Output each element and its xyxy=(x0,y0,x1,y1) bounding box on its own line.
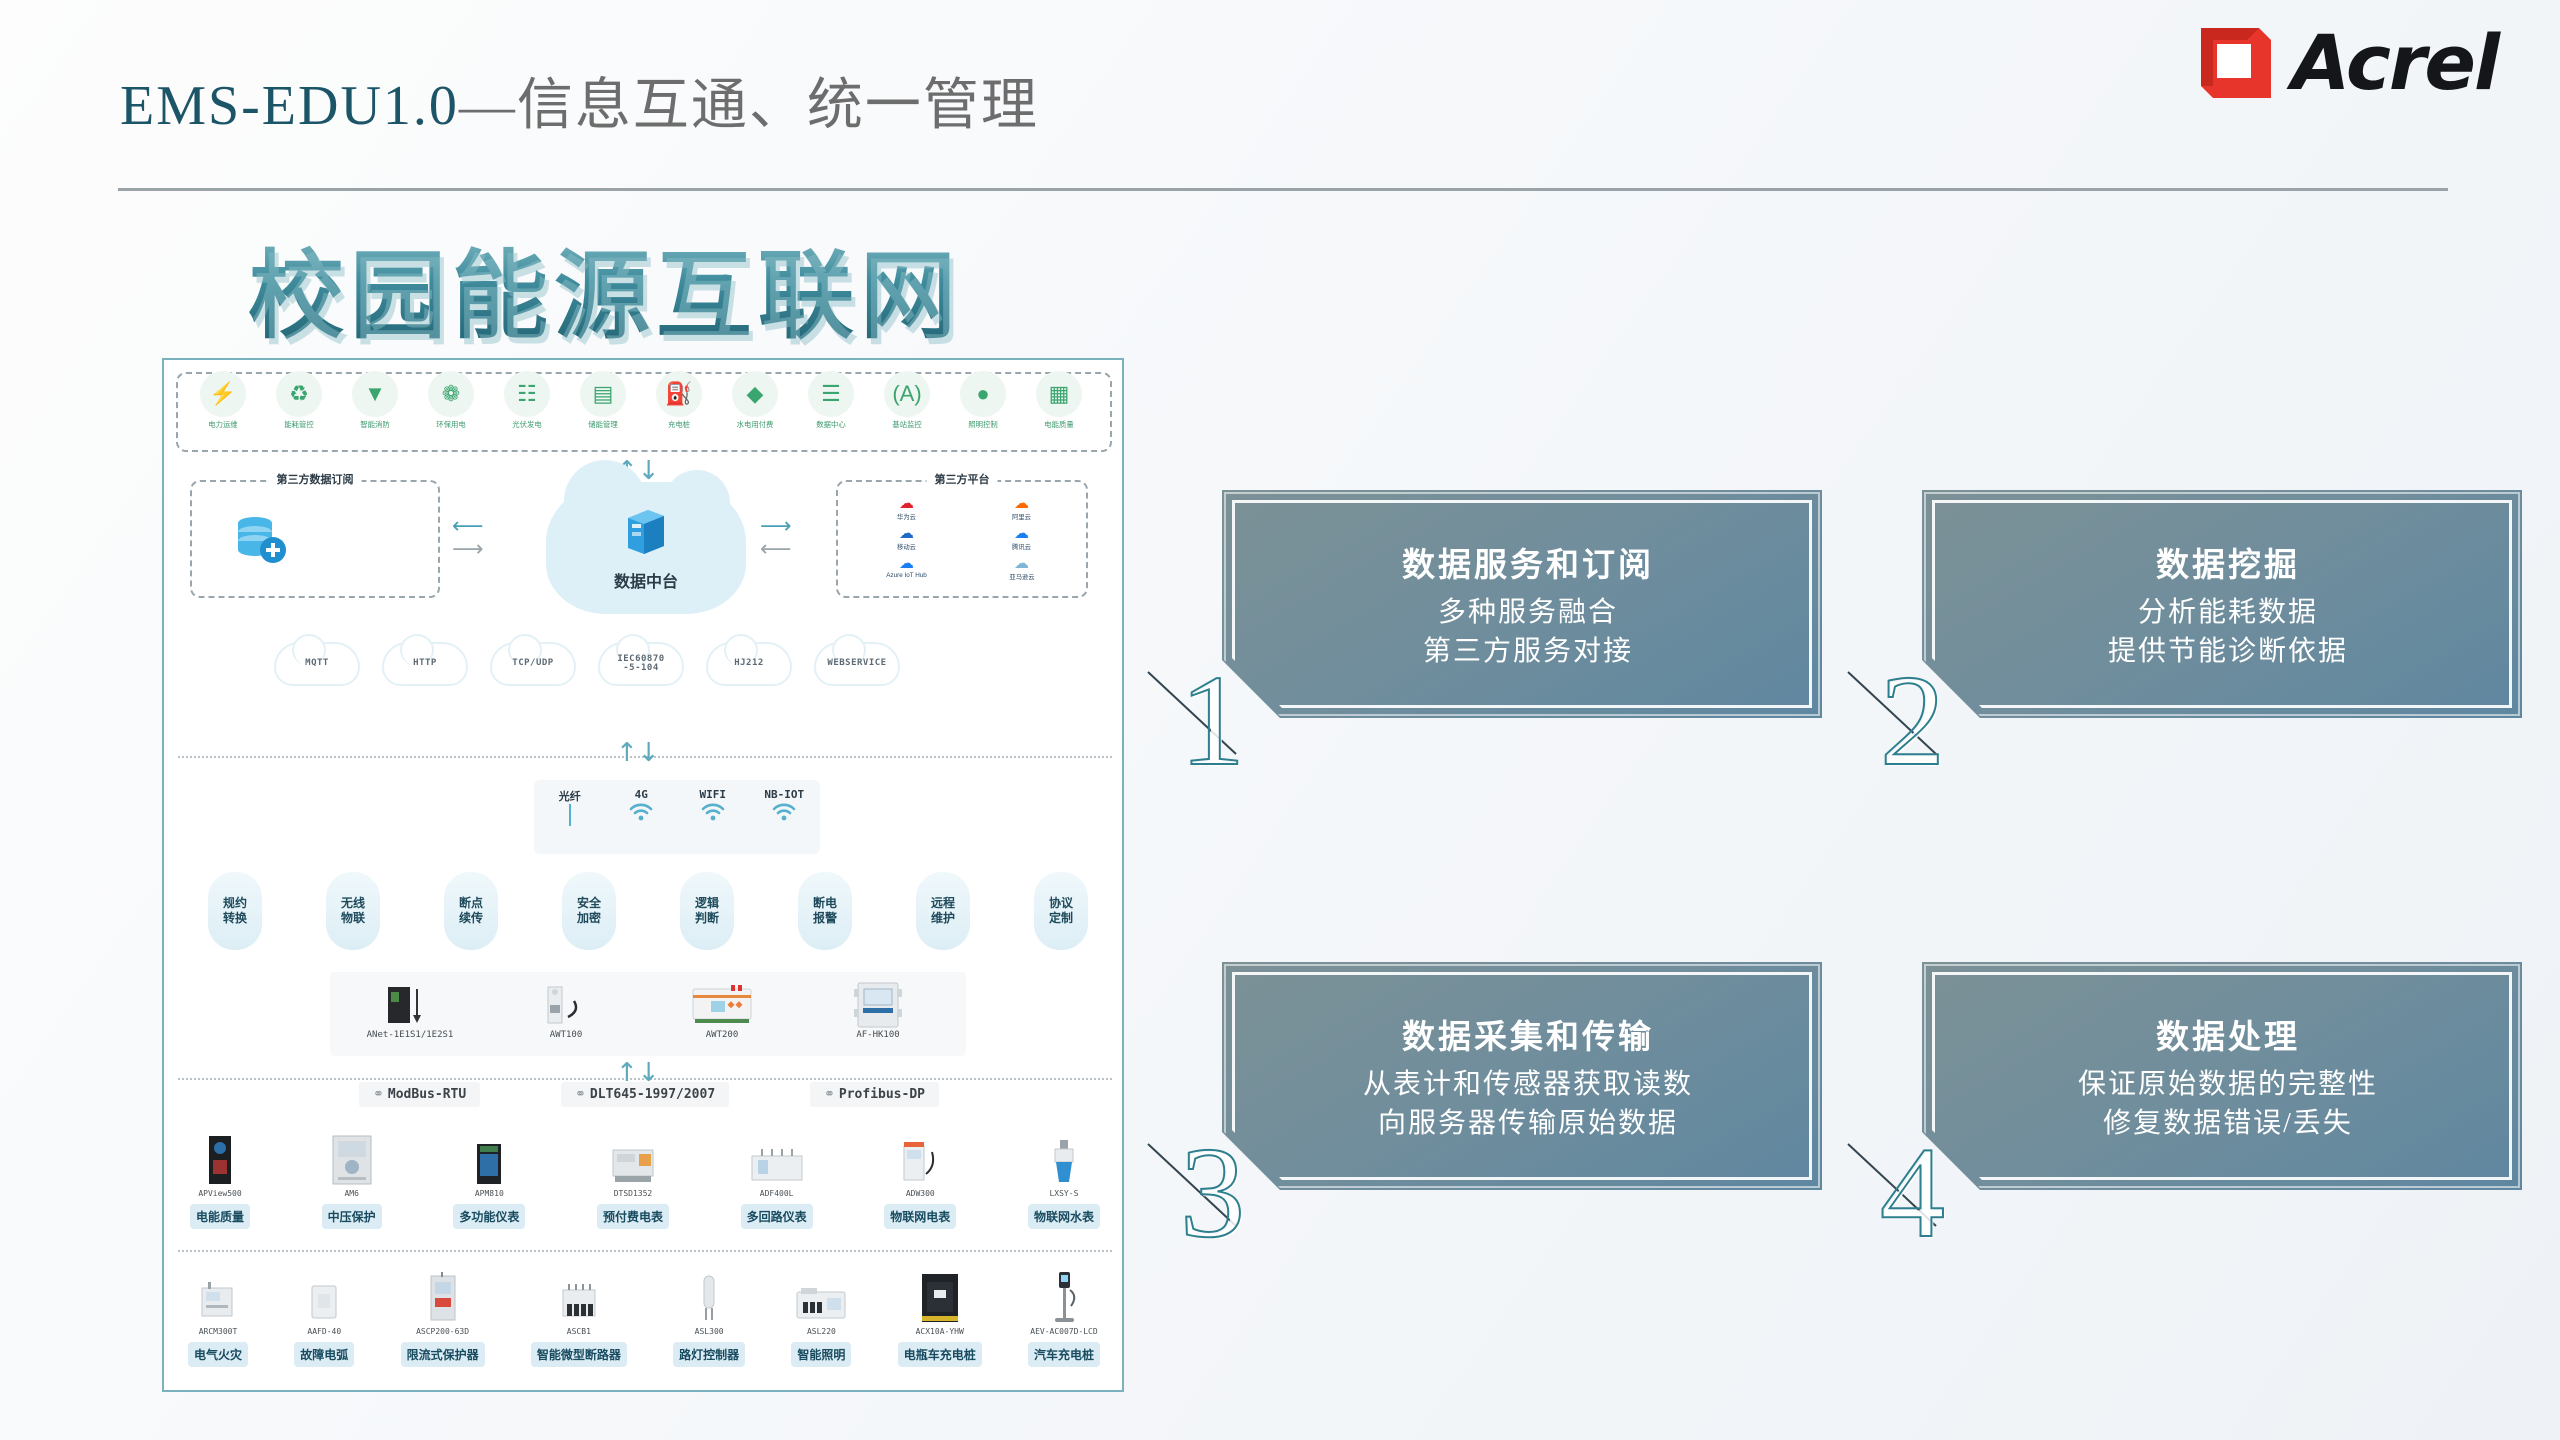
card-title: 数据处理 xyxy=(1968,1010,2488,1058)
card-line-1: 保证原始数据的完整性 xyxy=(1968,1066,2488,1105)
eco-power-icon: ❁ xyxy=(428,371,474,417)
capability-label: 无线物联 xyxy=(341,896,365,926)
app-icon-3[interactable]: ▼智能消防 xyxy=(346,371,404,430)
capability-label: 断电报警 xyxy=(813,896,837,926)
database-stack-icon xyxy=(226,504,298,576)
device-model: ACX10A-YHW xyxy=(898,1327,982,1336)
azure-iot-icon: ☁ xyxy=(899,556,914,572)
upper-protocol-list: MQTTHTTPTCP/UDPIEC60870-5-104HJ212WEBSER… xyxy=(274,642,1014,686)
aws-cloud-icon: ☁ xyxy=(1014,556,1029,572)
app-icon-12[interactable]: ▦电能质量 xyxy=(1030,371,1088,430)
fieldbus-chip-2: ⚭DLT645-1997/2007 xyxy=(561,1082,729,1107)
brand-logo: Acrel xyxy=(2195,20,2498,106)
device-tag: 电瓶车充电桩 xyxy=(898,1342,982,1367)
app-icon-9[interactable]: ☰数据中心 xyxy=(802,371,860,430)
cloud-vendor-name: 华为云 xyxy=(897,513,916,522)
capability-label: 逻辑判断 xyxy=(695,896,719,926)
step-card-2[interactable]: 数据挖掘 分析能耗数据 提供节能诊断依据 2 xyxy=(1922,490,2522,718)
gateway-din-icon xyxy=(652,980,792,1030)
device-tag: 限流式保护器 xyxy=(401,1342,485,1367)
capability-label: 规约转换 xyxy=(223,896,247,926)
gateway-antenna-icon xyxy=(496,980,636,1030)
power-quality-meter-icon xyxy=(190,1130,250,1186)
lighting-icon: ● xyxy=(960,371,1006,417)
device-item[interactable]: ADW300物联网电表 xyxy=(884,1130,956,1229)
device-model: AEV-AC007D-LCD xyxy=(1028,1327,1100,1336)
device-tag: 物联网电表 xyxy=(884,1204,956,1229)
iot-meter-icon xyxy=(884,1130,956,1186)
device-model: ASL220 xyxy=(791,1327,851,1336)
wifi-signal-icon xyxy=(610,801,672,826)
device-item[interactable]: ASL300路灯控制器 xyxy=(673,1268,745,1367)
protocol-cloud-4: IEC60870-5-104 xyxy=(598,642,684,686)
arrow-left-icon: ⟵ xyxy=(760,541,792,559)
device-model: AAFD-40 xyxy=(294,1327,354,1336)
step-card-3[interactable]: 数据采集和传输 从表计和传感器获取读数 向服务器传输原始数据 3 xyxy=(1222,962,1822,1190)
device-item[interactable]: ACX10A-YHW电瓶车充电桩 xyxy=(898,1268,982,1367)
device-model: APM810 xyxy=(453,1189,525,1198)
device-model: ASCP200-63D xyxy=(401,1327,485,1336)
cloud-vendor-name: Azure IoT Hub xyxy=(886,572,927,578)
app-icon-8[interactable]: ◆水电用付费 xyxy=(726,371,784,430)
app-icon-label: 充电桩 xyxy=(652,419,705,429)
protocol-cloud-2: HTTP xyxy=(382,642,468,686)
gateway-model: AF-HK100 xyxy=(808,1030,948,1040)
app-icon-1[interactable]: ⚡电力运维 xyxy=(194,371,252,430)
capability-label: 安全加密 xyxy=(577,896,601,926)
fiber-icon xyxy=(539,804,601,831)
app-icon-2[interactable]: ♻能耗管控 xyxy=(270,371,328,430)
device-tag: 路灯控制器 xyxy=(673,1342,745,1367)
gateway-capability-list: 规约转换无线物联断点续传安全加密逻辑判断断电报警远程维护协议定制 xyxy=(208,872,1088,950)
arrow-right-icon: ⟶ xyxy=(452,541,484,559)
capability-pill-6: 断电报警 xyxy=(798,872,852,950)
device-item[interactable]: AM6中压保护 xyxy=(322,1130,382,1229)
card-content: 数据服务和订阅 多种服务融合 第三方服务对接 xyxy=(1268,538,1788,671)
protocol-label: MQTT xyxy=(305,659,329,668)
link-icon: ⚭ xyxy=(373,1087,384,1102)
third-party-subscribe-box: 第三方数据订阅 xyxy=(190,480,440,598)
device-item[interactable]: ASCB1智能微型断路器 xyxy=(531,1268,627,1367)
page-header: EMS-EDU1.0—信息互通、统一管理 Acrel xyxy=(0,0,2560,190)
device-tag: 物联网水表 xyxy=(1028,1204,1100,1229)
mobile-cloud-icon: ☁ xyxy=(899,526,914,542)
device-item[interactable]: ASL220智能照明 xyxy=(791,1268,851,1367)
device-model: ARCM300T xyxy=(188,1327,248,1336)
app-icon-label: 环保用电 xyxy=(424,419,477,429)
app-icon-4[interactable]: ❁环保用电 xyxy=(422,371,480,430)
gateway-2: AWT100 xyxy=(496,980,636,1040)
device-item[interactable]: APView500电能质量 xyxy=(190,1130,250,1229)
cloud-vendor-logo-grid: ☁华为云☁阿里云☁移动云☁腾讯云☁Azure IoT Hub☁亚马逊云 xyxy=(852,496,1076,582)
card-number: 4 xyxy=(1880,1128,1945,1258)
card-number: 1 xyxy=(1180,656,1245,786)
protocol-cloud-1: MQTT xyxy=(274,642,360,686)
arrow-right-icon: ⟶ xyxy=(760,518,792,536)
aliyun-cloud-icon: ☁ xyxy=(1014,496,1029,512)
app-icon-11[interactable]: ●照明控制 xyxy=(954,371,1012,430)
device-tag: 预付费电表 xyxy=(597,1204,669,1229)
power-quality-icon: ▦ xyxy=(1036,371,1082,417)
page-title-cn: —信息互通、统一管理 xyxy=(459,75,1039,137)
network-tech-label: 4G xyxy=(610,788,672,801)
wifi-signal-icon xyxy=(682,801,744,826)
card-line-2: 修复数据错误/丢失 xyxy=(1968,1105,2488,1144)
protocol-label: WEBSERVICE xyxy=(827,659,886,668)
cloud-vendor-1[interactable]: ☁华为云 xyxy=(852,496,961,522)
header-divider xyxy=(118,188,2448,191)
layer-divider-3 xyxy=(178,1250,1112,1252)
card-title: 数据服务和订阅 xyxy=(1268,538,1788,586)
power-ops-icon: ⚡ xyxy=(200,371,246,417)
card-content: 数据处理 保证原始数据的完整性 修复数据错误/丢失 xyxy=(1968,1010,2488,1143)
page-title-en: EMS-EDU1.0 xyxy=(120,75,459,137)
charging-pile-icon: ⛽ xyxy=(656,371,702,417)
mini-breaker-icon xyxy=(531,1268,627,1324)
device-row-2: ARCM300T电气火灾AAFD-40故障电弧ASCP200-63D限流式保护器… xyxy=(188,1268,1100,1367)
app-icon-label: 储能管理 xyxy=(576,419,629,429)
cloud-server-icon xyxy=(624,506,668,556)
fieldbus-chip-1: ⚭ModBus-RTU xyxy=(359,1082,480,1107)
device-model: AM6 xyxy=(322,1189,382,1198)
app-icon-7[interactable]: ⛽充电桩 xyxy=(650,371,708,430)
capability-label: 远程维护 xyxy=(931,896,955,926)
capability-pill-5: 逻辑判断 xyxy=(680,872,734,950)
card-line-1: 分析能耗数据 xyxy=(1968,594,2488,633)
capability-label: 断点续传 xyxy=(459,896,483,926)
app-icon-6[interactable]: ▤储能管理 xyxy=(574,371,632,430)
subscribe-exchange-arrows: ⟵ ⟶ xyxy=(452,518,484,558)
cloud-vendor-4[interactable]: ☁腾讯云 xyxy=(967,526,1076,552)
step-card-1[interactable]: 数据服务和订阅 多种服务融合 第三方服务对接 1 xyxy=(1222,490,1822,718)
page-title: EMS-EDU1.0—信息互通、统一管理 xyxy=(120,60,1039,141)
network-tech-label: NB-IOT xyxy=(753,788,815,801)
cloud-vendor-name: 亚马逊云 xyxy=(1009,573,1034,582)
card-line-2: 提供节能诊断依据 xyxy=(1968,633,2488,672)
acrel-square-mark-icon xyxy=(2195,22,2277,104)
card-line-2: 向服务器传输原始数据 xyxy=(1268,1105,1788,1144)
device-model: ADW300 xyxy=(884,1189,956,1198)
street-light-icon xyxy=(673,1268,745,1324)
cloud-vendor-5[interactable]: ☁Azure IoT Hub xyxy=(852,556,961,582)
device-tag: 故障电弧 xyxy=(294,1342,354,1367)
gateway-panel-icon xyxy=(808,980,948,1030)
capability-pill-3: 断点续传 xyxy=(444,872,498,950)
fire-monitor-icon xyxy=(188,1268,248,1324)
third-party-platform-box: 第三方平台 ☁华为云☁阿里云☁移动云☁腾讯云☁Azure IoT Hub☁亚马逊… xyxy=(836,480,1088,598)
protocol-label: TCP/UDP xyxy=(512,659,553,668)
water-fee-icon: ◆ xyxy=(732,371,778,417)
ebike-charger-icon xyxy=(898,1268,982,1324)
device-tag: 智能照明 xyxy=(791,1342,851,1367)
gateway-4: AF-HK100 xyxy=(808,980,948,1040)
gateway-3: AWT200 xyxy=(652,980,792,1040)
device-model: LXSY-S xyxy=(1028,1189,1100,1198)
prepaid-meter-icon xyxy=(597,1130,669,1186)
capability-label: 协议定制 xyxy=(1049,896,1073,926)
link-icon: ⚭ xyxy=(575,1087,586,1102)
gateway-black-icon xyxy=(340,980,480,1030)
app-icon-10[interactable]: (A)基站监控 xyxy=(878,371,936,430)
arrow-left-icon: ⟵ xyxy=(452,518,484,536)
architecture-diagram-panel: ⚡电力运维♻能耗管控▼智能消防❁环保用电☷光伏发电▤储能管理⛽充电桩◆水电用付费… xyxy=(162,358,1124,1392)
gateway-device-strip: ANet-1E1S1/1E2S1AWT100AWT200AF-HK100 xyxy=(330,972,966,1056)
multicircuit-meter-icon xyxy=(741,1130,813,1186)
card-title: 数据采集和传输 xyxy=(1268,1010,1788,1058)
network-tech-box: 光纤4GWIFINB-IOT xyxy=(534,780,820,854)
device-item[interactable]: ADF400L多回路仪表 xyxy=(741,1130,813,1229)
app-icon-label: 电能质量 xyxy=(1032,419,1085,429)
data-center-icon: ☰ xyxy=(808,371,854,417)
app-icon-label: 能耗管控 xyxy=(272,419,325,429)
app-icon-label: 照明控制 xyxy=(956,419,1009,429)
network-tech-1: 光纤 xyxy=(539,788,601,831)
device-item[interactable]: ASCP200-63D限流式保护器 xyxy=(401,1268,485,1367)
device-row-1: APView500电能质量AM6中压保护APM810多功能仪表DTSD1352预… xyxy=(190,1130,1100,1229)
step-card-4[interactable]: 数据处理 保证原始数据的完整性 修复数据错误/丢失 4 xyxy=(1922,962,2522,1190)
device-model: ASL300 xyxy=(673,1327,745,1336)
link-icon: ⚭ xyxy=(824,1087,835,1102)
fieldbus-label: DLT645-1997/2007 xyxy=(590,1087,715,1102)
device-model: DTSD1352 xyxy=(597,1189,669,1198)
app-icon-label: 基站监控 xyxy=(880,419,933,429)
storage-icon: ▤ xyxy=(580,371,626,417)
protocol-label: HJ212 xyxy=(734,659,764,668)
card-content: 数据挖掘 分析能耗数据 提供节能诊断依据 xyxy=(1968,538,2488,671)
app-icon-label: 光伏发电 xyxy=(500,419,553,429)
app-icon-label: 电力运维 xyxy=(196,419,249,429)
card-line-1: 从表计和传感器获取读数 xyxy=(1268,1066,1788,1105)
fieldbus-label: Profibus-DP xyxy=(839,1087,925,1102)
gateway-1: ANet-1E1S1/1E2S1 xyxy=(340,980,480,1040)
card-number: 3 xyxy=(1180,1128,1245,1258)
app-icon-label: 数据中心 xyxy=(804,419,857,429)
device-tag: 多回路仪表 xyxy=(741,1204,813,1229)
device-model: ASCB1 xyxy=(531,1327,627,1336)
base-station-icon: (A) xyxy=(884,371,930,417)
network-tech-label: 光纤 xyxy=(539,788,601,804)
protection-relay-icon xyxy=(322,1130,382,1186)
protocol-label: HTTP xyxy=(413,659,437,668)
cloud-vendor-6[interactable]: ☁亚马逊云 xyxy=(967,556,1076,582)
solar-pv-icon: ☷ xyxy=(504,371,550,417)
cloud-vendor-name: 移动云 xyxy=(897,543,916,552)
arrow-updown-network-icon: ↑↓ xyxy=(616,740,660,766)
device-model: APView500 xyxy=(190,1189,250,1198)
gateway-model: ANet-1E1S1/1E2S1 xyxy=(340,1030,480,1040)
device-tag: 电能质量 xyxy=(190,1204,250,1229)
fieldbus-protocol-list: ⚭ModBus-RTU⚭DLT645-1997/2007⚭Profibus-DP xyxy=(359,1082,939,1107)
brand-name: Acrel xyxy=(2291,22,2498,104)
tencent-cloud-icon: ☁ xyxy=(1014,526,1029,542)
third-party-subscribe-title: 第三方数据订阅 xyxy=(269,471,362,487)
cloud-vendor-2[interactable]: ☁阿里云 xyxy=(967,496,1076,522)
network-tech-4: NB-IOT xyxy=(753,788,815,826)
capability-pill-8: 协议定制 xyxy=(1034,872,1088,950)
iot-water-meter-icon xyxy=(1028,1130,1100,1186)
data-platform-label: 数据中台 xyxy=(546,568,746,592)
card-number: 2 xyxy=(1880,656,1945,786)
cloud-vendor-3[interactable]: ☁移动云 xyxy=(852,526,961,552)
device-tag: 中压保护 xyxy=(322,1204,382,1229)
capability-pill-7: 远程维护 xyxy=(916,872,970,950)
device-item[interactable]: DTSD1352预付费电表 xyxy=(597,1130,669,1229)
energy-control-icon: ♻ xyxy=(276,371,322,417)
smart-fire-icon: ▼ xyxy=(352,371,398,417)
device-item[interactable]: AEV-AC007D-LCD汽车充电桩 xyxy=(1028,1268,1100,1367)
third-party-platform-title: 第三方平台 xyxy=(927,471,998,487)
smart-lighting-icon xyxy=(791,1268,851,1324)
protocol-label: IEC60870-5-104 xyxy=(617,655,664,674)
device-item[interactable]: ARCM300T电气火灾 xyxy=(188,1268,248,1367)
card-title: 数据挖掘 xyxy=(1968,538,2488,586)
gateway-model: AWT200 xyxy=(652,1030,792,1040)
device-item[interactable]: LXSY-S物联网水表 xyxy=(1028,1130,1100,1229)
gateway-model: AWT100 xyxy=(496,1030,636,1040)
protocol-cloud-5: HJ212 xyxy=(706,642,792,686)
fieldbus-chip-3: ⚭Profibus-DP xyxy=(810,1082,939,1107)
network-tech-2: 4G xyxy=(610,788,672,826)
current-limit-icon xyxy=(401,1268,485,1324)
card-content: 数据采集和传输 从表计和传感器获取读数 向服务器传输原始数据 xyxy=(1268,1010,1788,1143)
arc-fault-icon xyxy=(294,1268,354,1324)
app-icon-5[interactable]: ☷光伏发电 xyxy=(498,371,556,430)
capability-pill-2: 无线物联 xyxy=(326,872,380,950)
hero-heading: 校园能源互联网 xyxy=(248,218,962,357)
device-model: ADF400L xyxy=(741,1189,813,1198)
device-tag: 多功能仪表 xyxy=(453,1204,525,1229)
capability-pill-1: 规约转换 xyxy=(208,872,262,950)
cloud-vendor-name: 腾讯云 xyxy=(1012,543,1031,552)
device-item[interactable]: AAFD-40故障电弧 xyxy=(294,1268,354,1367)
device-item[interactable]: APM810多功能仪表 xyxy=(453,1130,525,1229)
wifi-signal-icon xyxy=(753,801,815,826)
network-tech-label: WIFI xyxy=(682,788,744,801)
platform-exchange-arrows: ⟶ ⟵ xyxy=(760,518,792,558)
ev-charger-icon xyxy=(1028,1268,1100,1324)
device-tag: 智能微型断路器 xyxy=(531,1342,627,1367)
app-icon-label: 智能消防 xyxy=(348,419,401,429)
app-icon-label: 水电用付费 xyxy=(728,419,781,429)
card-line-1: 多种服务融合 xyxy=(1268,594,1788,633)
cloud-vendor-name: 阿里云 xyxy=(1012,513,1031,522)
network-tech-3: WIFI xyxy=(682,788,744,826)
device-tag: 汽车充电桩 xyxy=(1028,1342,1100,1367)
protocol-cloud-3: TCP/UDP xyxy=(490,642,576,686)
capability-pill-4: 安全加密 xyxy=(562,872,616,950)
fieldbus-label: ModBus-RTU xyxy=(388,1087,466,1102)
card-line-2: 第三方服务对接 xyxy=(1268,633,1788,672)
protocol-cloud-6: WEBSERVICE xyxy=(814,642,900,686)
data-platform-cloud: 数据中台 xyxy=(546,482,746,614)
multifunction-meter-icon xyxy=(453,1130,525,1186)
device-tag: 电气火灾 xyxy=(188,1342,248,1367)
huawei-cloud-icon: ☁ xyxy=(899,496,914,512)
